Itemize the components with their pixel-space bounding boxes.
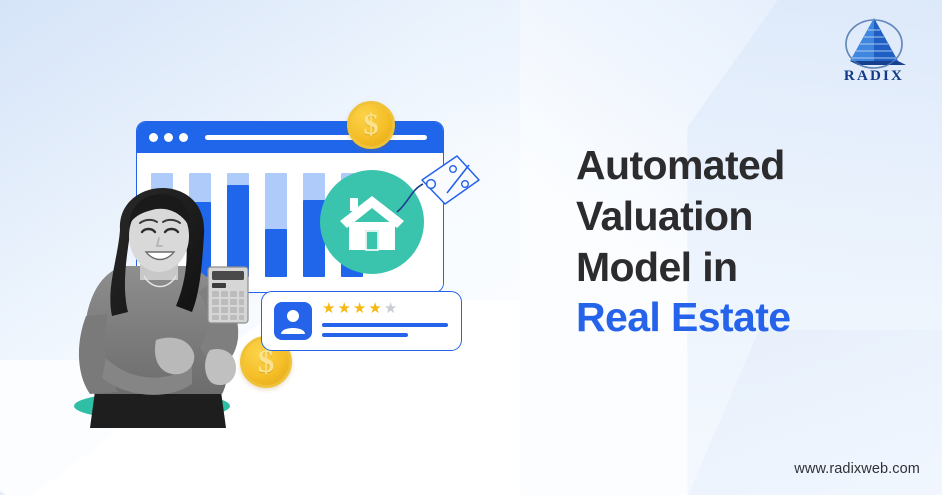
user-avatar-icon xyxy=(274,302,312,340)
banner-root: RADIX $ $ xyxy=(0,0,942,495)
review-card: ★★★★★ xyxy=(261,291,462,351)
coin-top-symbol: $ xyxy=(364,108,379,142)
window-dot-1-icon xyxy=(149,133,158,142)
review-text-line-2 xyxy=(322,333,408,337)
star-4[interactable]: ★ xyxy=(368,301,381,316)
headline-line-1: Automated xyxy=(576,140,936,191)
radix-logo[interactable]: RADIX xyxy=(828,12,920,86)
headline-line-4-accent: Real Estate xyxy=(576,292,936,343)
headline-line-2: Valuation xyxy=(576,191,936,242)
window-dot-3-icon xyxy=(179,133,188,142)
star-5[interactable]: ★ xyxy=(384,301,397,316)
bar-fill-4 xyxy=(265,229,287,277)
star-3[interactable]: ★ xyxy=(353,301,366,316)
headline-line-3: Model in xyxy=(576,242,936,293)
percent-price-tag-icon xyxy=(395,150,481,226)
avatar xyxy=(274,302,312,340)
review-text-line-1 xyxy=(322,323,448,327)
bar-4 xyxy=(265,173,287,277)
browser-titlebar xyxy=(137,122,443,153)
headline-block: Automated Valuation Model in Real Estate xyxy=(576,140,936,343)
calculator-icon xyxy=(207,266,249,324)
website-url[interactable]: www.radixweb.com xyxy=(794,461,920,477)
star-rating: ★★★★★ xyxy=(322,301,397,316)
star-1[interactable]: ★ xyxy=(322,301,335,316)
logo-wordmark: RADIX xyxy=(828,68,920,85)
window-dot-2-icon xyxy=(164,133,173,142)
pyramid-ring-icon xyxy=(828,12,920,72)
address-bar[interactable] xyxy=(205,135,427,140)
star-2[interactable]: ★ xyxy=(337,301,350,316)
coin-top: $ xyxy=(347,101,395,149)
